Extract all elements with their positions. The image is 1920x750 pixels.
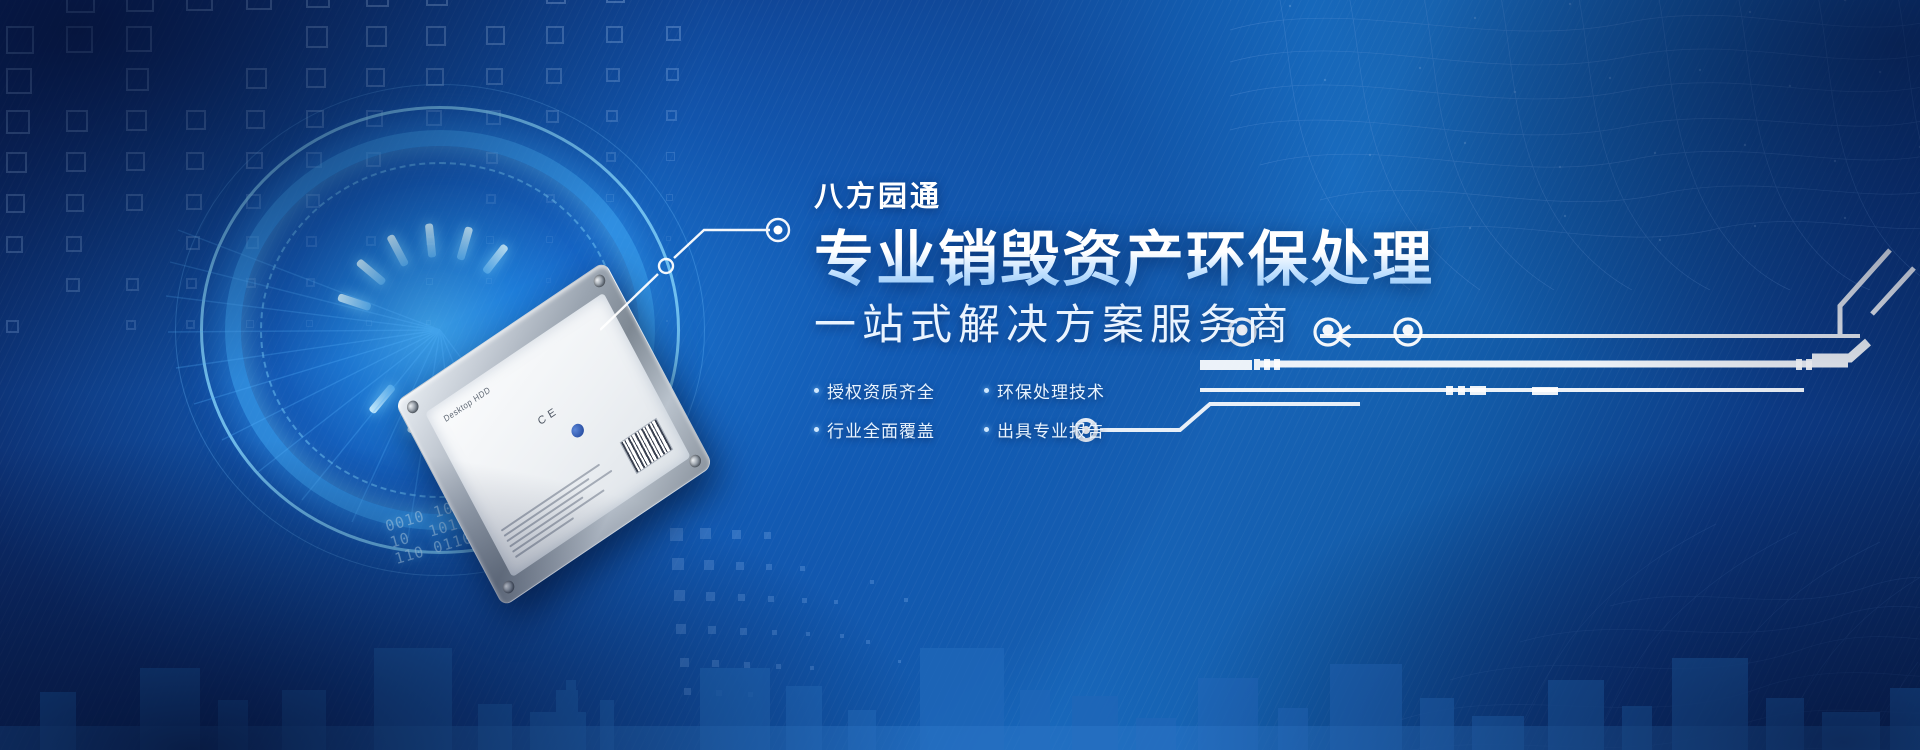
grid-square <box>666 26 681 41</box>
feature-label: 出具专业报告 <box>997 417 1105 442</box>
grid-square <box>66 110 88 132</box>
grid-square <box>126 320 136 330</box>
feature-label: 授权资质齐全 <box>827 378 935 403</box>
bullet-icon <box>814 388 819 393</box>
grid-square <box>366 68 385 87</box>
grid-square <box>666 68 679 81</box>
headline: 专业销毁资产环保处理 <box>814 228 1634 291</box>
grid-square <box>6 194 25 213</box>
grid-square <box>306 0 330 8</box>
grid-square <box>606 26 623 43</box>
grid-square <box>6 320 19 333</box>
grid-square <box>486 68 503 85</box>
grid-square <box>546 68 562 84</box>
grid-square <box>66 26 93 53</box>
grid-square <box>546 0 566 4</box>
grid-square <box>66 194 84 212</box>
grid-square <box>546 26 564 44</box>
brand-name: 八方园通 <box>814 182 1634 214</box>
grid-square <box>366 0 389 7</box>
hdd-barcode-icon <box>620 418 674 475</box>
grid-square <box>306 68 326 88</box>
feature-item: 出具专业报告 <box>984 417 1134 442</box>
grid-square <box>66 236 82 252</box>
grid-square <box>6 68 32 94</box>
grid-square <box>426 26 446 46</box>
feature-list: 授权资质齐全 环保处理技术 行业全面覆盖 出具专业报告 <box>814 378 1144 442</box>
grid-square <box>186 0 213 11</box>
grid-square <box>66 152 86 172</box>
grid-square <box>6 26 34 54</box>
grid-square <box>126 68 149 91</box>
hdd-label-dot-icon <box>569 421 586 440</box>
grid-square <box>126 110 147 131</box>
feature-item: 行业全面覆盖 <box>814 417 966 442</box>
bullet-icon <box>984 427 989 432</box>
grid-square <box>426 0 448 6</box>
grid-square <box>126 194 143 211</box>
banner-copy-block: 八方园通 专业销毁资产环保处理 一站式解决方案服务商 授权资质齐全 环保处理技术… <box>814 182 1634 442</box>
hdd-certification-marks: CE <box>536 404 561 428</box>
grid-square <box>126 0 154 12</box>
grid-square <box>306 26 328 48</box>
feature-item: 授权资质齐全 <box>814 378 966 403</box>
feature-label: 行业全面覆盖 <box>827 417 935 442</box>
grid-square <box>246 0 272 10</box>
grid-square <box>486 26 505 45</box>
grid-square <box>126 278 139 291</box>
city-skyline-silhouette-icon <box>0 540 1920 750</box>
bullet-icon <box>984 388 989 393</box>
grid-square <box>6 152 27 173</box>
grid-square <box>6 110 30 134</box>
grid-square <box>366 26 387 47</box>
subheadline: 一站式解决方案服务商 <box>814 301 1634 348</box>
grid-square <box>6 236 23 253</box>
bullet-icon <box>814 427 819 432</box>
grid-square <box>606 68 620 82</box>
grid-square <box>126 152 145 171</box>
grid-square <box>606 0 625 3</box>
grid-square <box>66 278 80 292</box>
feature-item: 环保处理技术 <box>984 378 1134 403</box>
grid-square <box>66 0 95 13</box>
grid-square <box>246 68 267 89</box>
feature-label: 环保处理技术 <box>997 378 1105 403</box>
grid-square <box>126 26 152 52</box>
promotional-banner: 0010 1001 100 10 1011 001 110 0110 11 De… <box>0 0 1920 750</box>
